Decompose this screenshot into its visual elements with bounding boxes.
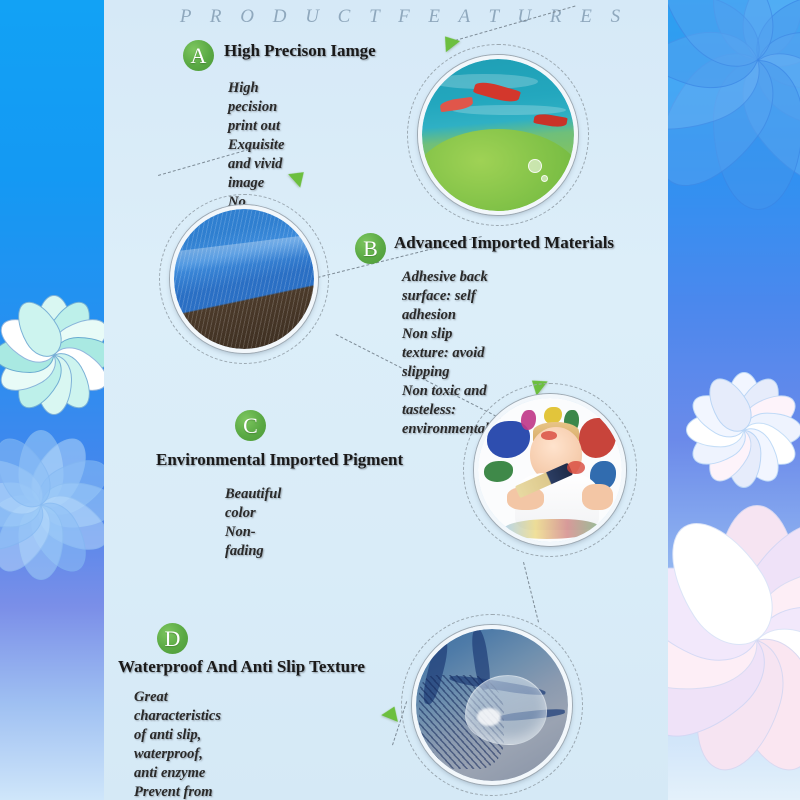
feature-title-c: Environmental Imported Pigment	[156, 450, 403, 470]
feature-title-d: Waterproof And Anti Slip Texture	[118, 657, 365, 677]
decorative-flower-left	[0, 295, 104, 415]
paint-splatter	[521, 410, 535, 430]
photo-b-image	[174, 209, 314, 349]
feature-photo-d	[412, 625, 572, 785]
fabric-rib-texture	[174, 209, 314, 349]
water-bubble	[528, 159, 542, 173]
feature-photo-c	[474, 394, 626, 546]
product-features-poster: P R O D U C T F E A T U R E S A High Pre…	[0, 0, 800, 800]
photo-d-frame	[412, 625, 572, 785]
feature-title-a: High Precison Iamge	[224, 41, 376, 61]
photo-c-frame	[474, 394, 626, 546]
decorative-flower-left-lower	[0, 430, 104, 580]
koi-fish	[534, 112, 569, 128]
feature-body-d: Great characteristics of anti slip, wate…	[134, 688, 221, 800]
baby-arm	[582, 484, 614, 510]
feature-body-c: Beautiful color Non-fading	[225, 485, 281, 561]
decorative-flower-right-mid	[686, 372, 800, 488]
photo-c-image	[478, 398, 622, 542]
paint-on-forehead	[541, 431, 557, 440]
feature-badge-b: B	[355, 233, 386, 264]
lily-pad-shape	[422, 129, 574, 211]
left-decor-band	[0, 0, 104, 800]
photo-a-frame	[418, 55, 578, 215]
right-decor-band	[668, 0, 800, 800]
photo-b-frame	[170, 205, 318, 353]
feature-badge-a: A	[183, 40, 214, 71]
photo-d-image	[416, 629, 568, 781]
feature-badge-c: C	[235, 410, 266, 441]
feature-photo-a	[418, 55, 578, 215]
paint-on-paper	[504, 519, 599, 539]
paint-on-cheek	[567, 461, 584, 474]
paint-splatter	[544, 407, 561, 424]
photo-a-image	[422, 59, 574, 211]
paint-splatter	[484, 461, 513, 481]
decorative-flower-right-bottom	[668, 505, 800, 775]
feature-title-b: Advanced Imported Materials	[394, 233, 614, 253]
feature-photo-b	[170, 205, 318, 353]
decorative-flower-right-top	[668, 0, 800, 210]
page-title: P R O D U C T F E A T U R E S	[0, 6, 800, 28]
feature-badge-d: D	[157, 623, 188, 654]
paint-splatter	[579, 418, 616, 458]
